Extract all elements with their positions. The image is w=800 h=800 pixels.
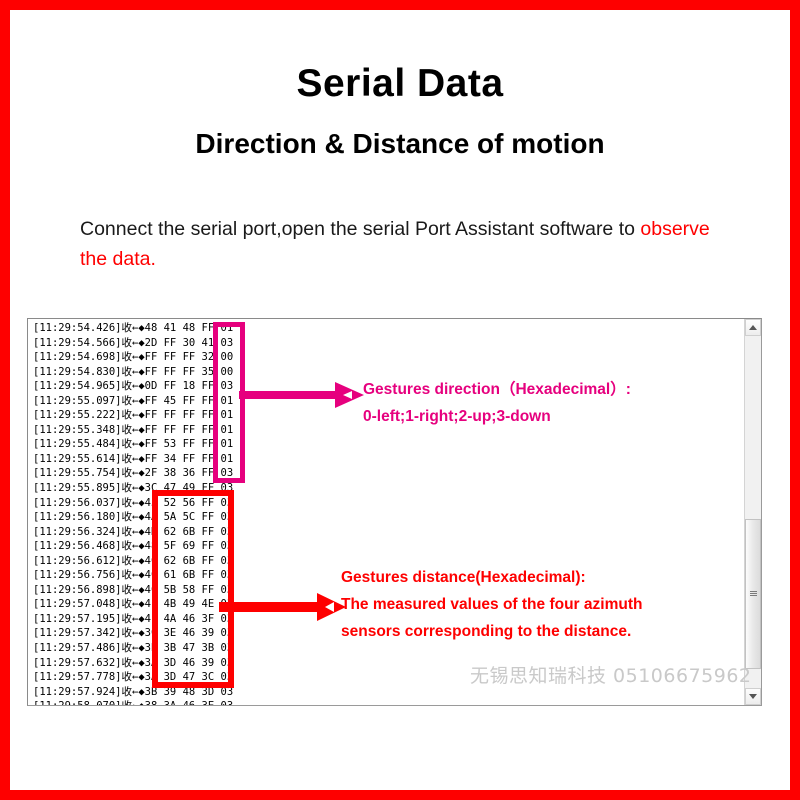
slide-root: Serial Data Direction & Distance of moti… [0,0,800,800]
frame-border-top [0,0,800,10]
distance-bytes-highlight-box [152,490,234,688]
direction-annotation-line2: 0-left;1-right;2-up;3-down [363,403,723,430]
direction-annotation: Gestures direction（Hexadecimal）: 0-left;… [363,376,723,430]
instruction-plain-text: Connect the serial port,open the serial … [80,218,640,240]
watermark-text: 无锡思知瑞科技 05106675962 [470,661,752,688]
chevron-up-icon [749,325,757,330]
frame-border-bottom [0,790,800,800]
grip-icon [750,590,757,598]
serial-log-line: [11:29:54.566]收←◆2D FF 30 41 03 [33,336,233,351]
direction-callout-arrow [239,378,365,417]
instruction-paragraph: Connect the serial port,open the serial … [80,214,740,274]
frame-border-left [0,0,10,800]
serial-log-line: [11:29:54.830]收←◆FF FF FF 35 00 [33,365,233,380]
frame-border-right [790,0,800,800]
page-subtitle: Direction & Distance of motion [0,128,800,160]
distance-annotation-line1: Gestures distance(Hexadecimal): [341,564,721,591]
vertical-scrollbar[interactable] [744,319,761,705]
distance-annotation-line2: The measured values of the four azimuth [341,591,721,618]
serial-log-line: [11:29:55.614]收←◆FF 34 FF FF 01 [33,452,233,467]
serial-log-line: [11:29:54.698]收←◆FF FF FF 32 00 [33,350,233,365]
serial-log-line: [11:29:58.070]收←◆38 3A 46 3E 03 [33,699,233,705]
scroll-up-button[interactable] [745,319,761,336]
serial-log-line: [11:29:55.348]收←◆FF FF FF FF 01 [33,423,233,438]
distance-callout-arrow [219,590,347,629]
serial-log-line: [11:29:55.754]收←◆2F 38 36 FF 03 [33,466,233,481]
scroll-down-button[interactable] [745,688,761,705]
serial-log-line: [11:29:55.097]收←◆FF 45 FF FF 01 [33,394,233,409]
direction-annotation-line1: Gestures direction（Hexadecimal）: [363,376,723,403]
chevron-down-icon [749,694,757,699]
scrollbar-thumb[interactable] [745,519,761,669]
serial-log-line: [11:29:54.426]收←◆48 41 48 FF 01 [33,321,233,336]
serial-log-line: [11:29:54.965]收←◆0D FF 18 FF 03 [33,379,233,394]
distance-annotation-line3: sensors corresponding to the distance. [341,618,721,645]
serial-log-line: [11:29:55.222]收←◆FF FF FF FF 01 [33,408,233,423]
serial-log-line: [11:29:55.484]收←◆FF 53 FF FF 01 [33,437,233,452]
distance-annotation: Gestures distance(Hexadecimal): The meas… [341,564,721,645]
page-title: Serial Data [0,62,800,106]
